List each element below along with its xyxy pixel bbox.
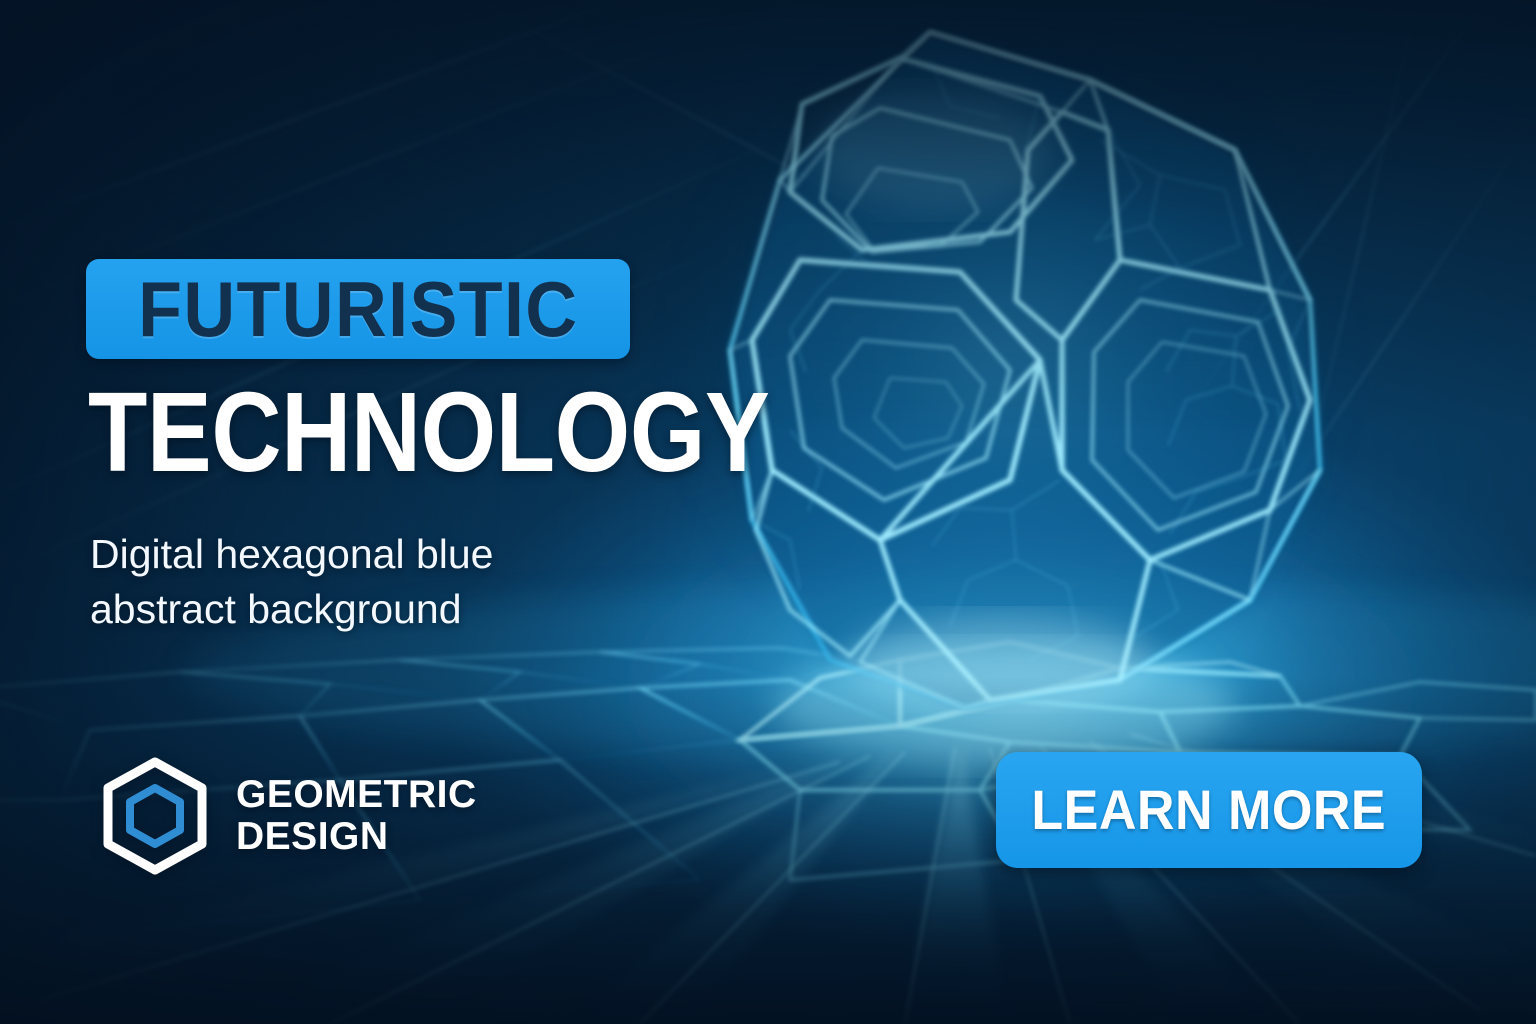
- subtitle: Digital hexagonal blue abstract backgrou…: [90, 527, 650, 636]
- subtitle-line-2: abstract background: [90, 582, 650, 637]
- brand-logo[interactable]: GEOMETRIC DESIGN: [100, 757, 477, 875]
- badge-label: FUTURISTIC: [138, 270, 578, 348]
- brand-name-line-2: DESIGN: [236, 816, 477, 858]
- hexagon-logo-icon: [100, 757, 210, 875]
- brand-name-line-1: GEOMETRIC: [236, 774, 477, 816]
- learn-more-label: LEARN MORE: [1032, 782, 1387, 838]
- futuristic-badge: FUTURISTIC: [86, 259, 630, 359]
- banner-root: FUTURISTIC TECHNOLOGY Digital hexagonal …: [0, 0, 1536, 1024]
- page-title: TECHNOLOGY: [88, 376, 862, 489]
- subtitle-line-1: Digital hexagonal blue: [90, 527, 650, 582]
- learn-more-button[interactable]: LEARN MORE: [996, 752, 1422, 868]
- brand-name: GEOMETRIC DESIGN: [236, 774, 477, 858]
